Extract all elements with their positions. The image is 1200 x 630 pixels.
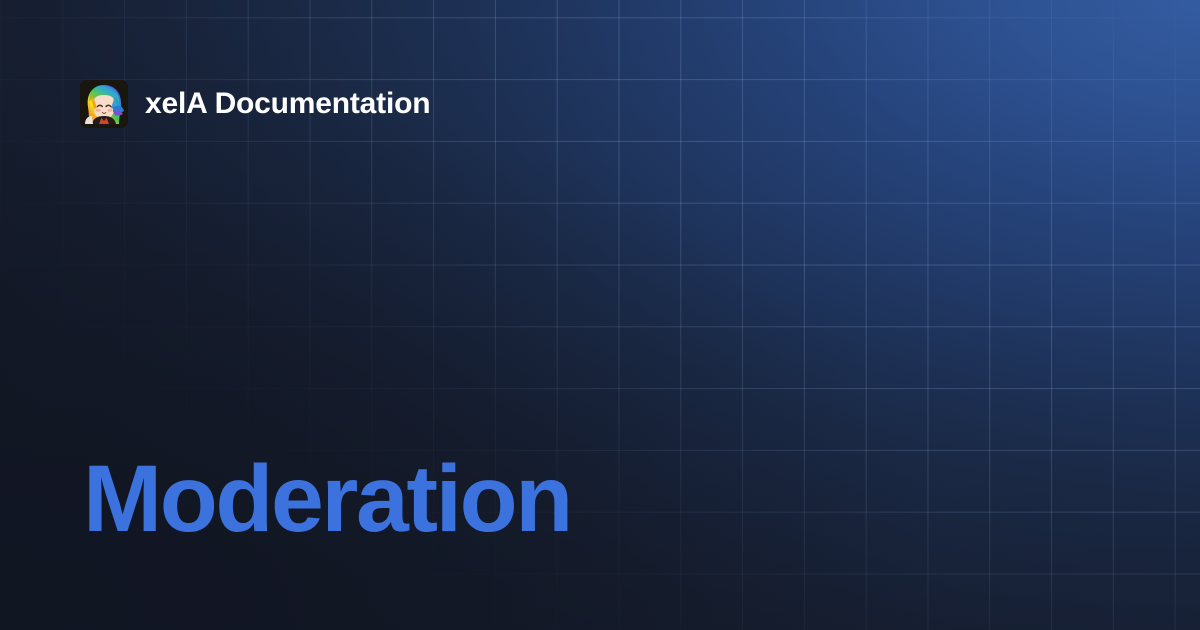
xela-avatar-icon bbox=[80, 80, 128, 128]
page-title: Moderation bbox=[83, 452, 571, 547]
brand-header: xelA Documentation bbox=[80, 80, 430, 128]
og-card: xelA Documentation Moderation bbox=[0, 0, 1200, 630]
brand-title: xelA Documentation bbox=[145, 89, 430, 119]
